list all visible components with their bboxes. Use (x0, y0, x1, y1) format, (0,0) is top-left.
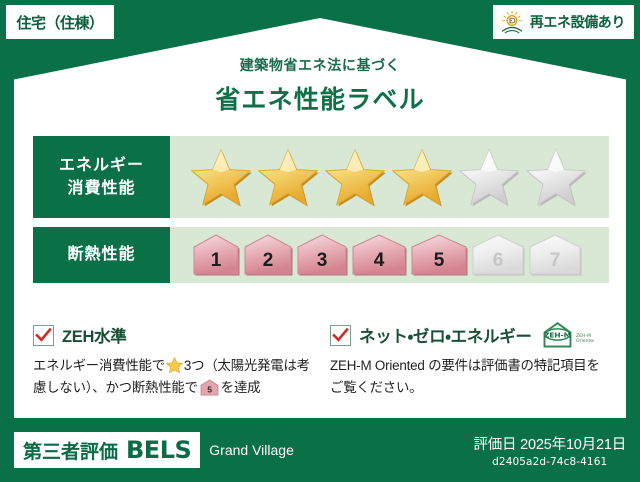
svg-text:3: 3 (317, 250, 328, 271)
check-icon (332, 327, 349, 344)
rating-label-line1: エネルギー (59, 154, 144, 177)
criterion-title: ZEH水準 (62, 323, 127, 347)
svg-text:4: 4 (374, 250, 385, 271)
svg-text:Oriented: Oriented (576, 338, 594, 344)
star-empty-icon (525, 147, 587, 207)
svg-text:ZEH-M: ZEH-M (544, 330, 571, 339)
label-title: 省エネ性能ラベル (0, 80, 640, 116)
house-filled-icon: 1 (192, 233, 240, 277)
project-name: Grand Village (209, 442, 294, 458)
house-filled-icon: 4 (351, 233, 407, 277)
evaluation-id: d2405a2d-74c8-4161 (473, 456, 626, 468)
rating-rows: エネルギー 消費性能 断熱性能 1234567 (33, 136, 609, 283)
star-filled-icon (257, 147, 319, 207)
evaluation-date: 評価日 2025年10月21日 (473, 433, 626, 454)
net-zero-energy-checkbox[interactable] (330, 325, 351, 346)
evaluation-meta: 評価日 2025年10月21日 d2405a2d-74c8-4161 (473, 433, 626, 468)
bels-en-label: BELS (126, 436, 191, 464)
zeh-level-checkbox[interactable] (33, 325, 54, 346)
zeh-m-oriented-logo: ZEH-M ZEH-M Oriented (542, 321, 594, 349)
house-filled-icon: 3 (296, 233, 348, 277)
criterion-header: ZEH水準 (33, 322, 314, 348)
rating-row-insulation: 断熱性能 1234567 (33, 227, 609, 283)
criterion-body-part1: エネルギー消費性能で (33, 358, 165, 373)
house-type-tag: 住宅（住棟） (6, 5, 114, 39)
rating-label-insulation: 断熱性能 (33, 227, 170, 283)
rating-label-line1: 断熱性能 (67, 243, 135, 266)
star-filled-icon (190, 147, 252, 207)
sun-renewable-icon (499, 10, 525, 34)
svg-text:6: 6 (493, 250, 504, 271)
svg-text:5: 5 (207, 384, 212, 394)
rating-label-line2: 消費性能 (67, 177, 135, 200)
check-icon (35, 327, 52, 344)
renewable-energy-tag-label: 再エネ設備あり (530, 12, 625, 32)
star-empty-icon (458, 147, 520, 207)
svg-text:2: 2 (263, 250, 274, 271)
star-filled-icon (391, 147, 453, 207)
criterion-zeh-level: ZEH水準 エネルギー消費性能で3つ（太陽光発電は考慮しない）、かつ断熱性能で5… (33, 322, 314, 398)
criterion-body: エネルギー消費性能で3つ（太陽光発電は考慮しない）、かつ断熱性能で5を達成 (33, 355, 314, 398)
bels-footer: 第三者評価 BELS Grand Village (14, 432, 294, 468)
criterion-net-zero-energy: ネット・ゼロ・エネルギー ZEH-M ZEH-M Oriented ZEH-M … (330, 322, 611, 398)
criteria-section: ZEH水準 エネルギー消費性能で3つ（太陽光発電は考慮しない）、かつ断熱性能で5… (33, 322, 611, 398)
renewable-energy-tag: 再エネ設備あり (493, 5, 634, 39)
svg-text:1: 1 (211, 250, 222, 271)
label-subtitle: 建築物省エネ法に基づく (0, 55, 640, 75)
energy-performance-label: 住宅（住棟） 再エネ設備あり 建築物省エネ法に基づく 省エネ性能ラベル (0, 0, 640, 482)
bels-jp-label: 第三者評価 (23, 437, 118, 464)
criterion-body-part3: を達成 (221, 380, 261, 395)
house-rating-track: 1234567 (170, 227, 609, 283)
house-type-tag-label: 住宅（住棟） (16, 12, 103, 33)
criterion-header: ネット・ゼロ・エネルギー ZEH-M ZEH-M Oriented (330, 322, 611, 348)
rating-row-energy-consumption: エネルギー 消費性能 (33, 136, 609, 218)
house-icon: 5 (200, 379, 219, 396)
svg-text:5: 5 (434, 250, 445, 271)
label-header: 建築物省エネ法に基づく 省エネ性能ラベル (0, 55, 640, 116)
house-filled-icon: 2 (243, 233, 293, 277)
rating-label-energy-consumption: エネルギー 消費性能 (33, 136, 170, 218)
house-empty-icon: 6 (471, 233, 525, 277)
star-icon (166, 357, 183, 373)
criterion-body: ZEH-M Oriented の要件は評価書の特記項目をご覧ください。 (330, 355, 611, 398)
house-empty-icon: 7 (528, 233, 582, 277)
svg-text:7: 7 (550, 250, 561, 271)
star-filled-icon (324, 147, 386, 207)
bels-badge: 第三者評価 BELS (14, 432, 200, 468)
star-rating-track (170, 136, 609, 218)
house-filled-icon: 5 (410, 233, 468, 277)
criterion-title: ネット・ゼロ・エネルギー (359, 323, 532, 347)
